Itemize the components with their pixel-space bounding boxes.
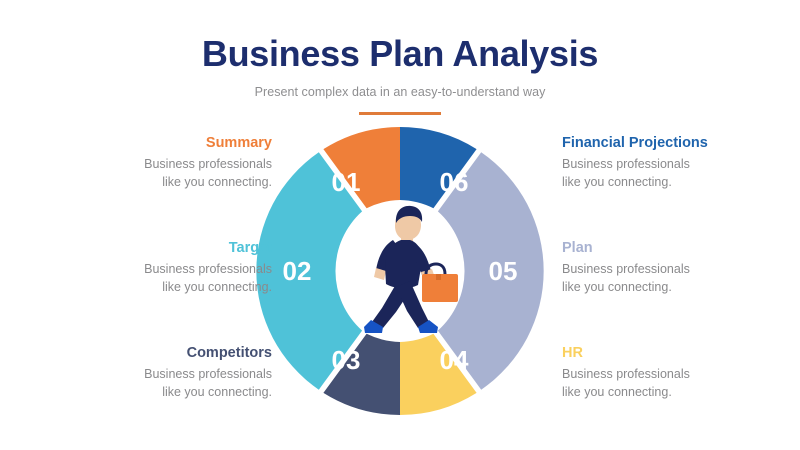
label-summary[interactable]: Summary Business professionals like you …: [92, 134, 272, 191]
label-plan-line1: Business professionals: [562, 260, 742, 278]
label-competitors[interactable]: Competitors Business professionals like …: [92, 344, 272, 401]
label-hr-line1: Business professionals: [562, 365, 742, 383]
donut-label-06: 06: [440, 167, 469, 197]
label-target-line1: Business professionals: [92, 260, 272, 278]
walking-businessman-icon: [352, 196, 462, 336]
label-plan-line2: like you connecting.: [562, 278, 742, 296]
label-financial-projections-line2: like you connecting.: [562, 173, 762, 191]
label-plan-heading: Plan: [562, 239, 742, 257]
label-financial-projections[interactable]: Financial Projections Business professio…: [562, 134, 762, 191]
slide-header: Business Plan Analysis Present complex d…: [0, 34, 800, 115]
label-target[interactable]: Target Business professionals like you c…: [92, 239, 272, 296]
label-plan[interactable]: Plan Business professionals like you con…: [562, 239, 742, 296]
label-hr[interactable]: HR Business professionals like you conne…: [562, 344, 742, 401]
donut-label-02: 02: [283, 256, 312, 286]
walking-businessman-svg: [352, 196, 462, 336]
label-hr-line2: like you connecting.: [562, 383, 742, 401]
page-subtitle: Present complex data in an easy-to-under…: [0, 85, 800, 99]
label-competitors-heading: Competitors: [92, 344, 272, 362]
label-target-heading: Target: [92, 239, 272, 257]
donut-label-01: 01: [332, 167, 361, 197]
title-divider: [359, 112, 441, 115]
businessman-group: [364, 206, 458, 333]
page-title: Business Plan Analysis: [0, 34, 800, 74]
label-financial-projections-heading: Financial Projections: [562, 134, 762, 152]
label-target-line2: like you connecting.: [92, 278, 272, 296]
label-summary-line2: like you connecting.: [92, 173, 272, 191]
label-financial-projections-line1: Business professionals: [562, 155, 762, 173]
donut-label-05: 05: [489, 256, 518, 286]
label-hr-heading: HR: [562, 344, 742, 362]
label-competitors-line1: Business professionals: [92, 365, 272, 383]
infographic-slide: Business Plan Analysis Present complex d…: [0, 0, 800, 450]
label-summary-line1: Business professionals: [92, 155, 272, 173]
donut-label-03: 03: [332, 345, 361, 375]
label-summary-heading: Summary: [92, 134, 272, 152]
donut-label-04: 04: [440, 345, 469, 375]
briefcase-latch: [436, 274, 441, 280]
label-competitors-line2: like you connecting.: [92, 383, 272, 401]
